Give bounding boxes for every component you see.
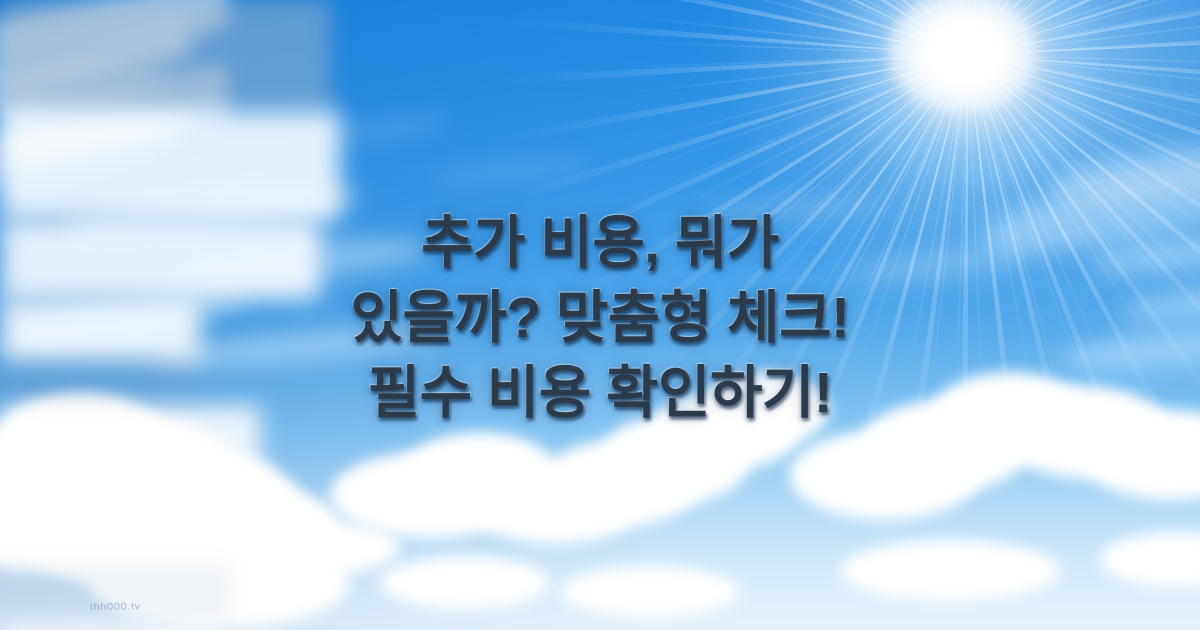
headline-line-2: 있을까? 맞춤형 체크! xyxy=(40,281,1160,356)
headline-block: 추가 비용, 뭐가 있을까? 맞춤형 체크! 필수 비용 확인하기! xyxy=(0,206,1200,431)
headline-line-1: 추가 비용, 뭐가 xyxy=(40,206,1160,281)
sky-banner: 추가 비용, 뭐가 있을까? 맞춤형 체크! 필수 비용 확인하기! thh00… xyxy=(0,0,1200,630)
watermark-text: thh000.tv xyxy=(90,601,141,613)
headline-line-3: 필수 비용 확인하기! xyxy=(40,356,1160,431)
